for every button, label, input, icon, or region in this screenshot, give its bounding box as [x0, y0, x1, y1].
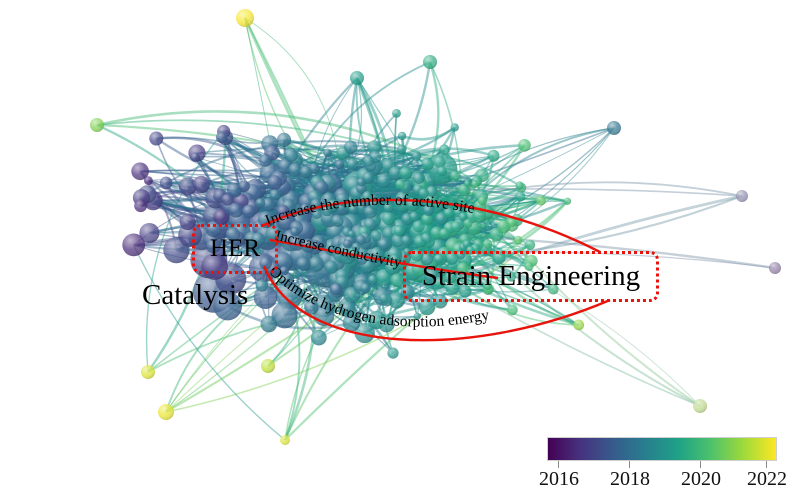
node-label-catalysis: Catalysis — [142, 279, 248, 312]
tick-label-2022: 2022 — [740, 468, 794, 489]
strain-text: Strain Engineering — [422, 260, 640, 293]
colorbar-legend: 2016 2018 2020 2022 — [547, 437, 775, 489]
node-label-strain-engineering[interactable]: Strain Engineering — [403, 251, 659, 302]
her-text: HER — [210, 235, 260, 263]
network-graph-canvas: Increase the number of active site Incre… — [0, 0, 800, 489]
tick-label-2018: 2018 — [603, 468, 657, 489]
node-label-her[interactable]: HER — [192, 224, 278, 274]
colorbar-tick-labels: 2016 2018 2020 2022 — [537, 468, 785, 489]
tick-label-2016: 2016 — [532, 468, 586, 489]
colorbar-ticks — [547, 461, 775, 468]
network-figure: Increase the number of active site Incre… — [0, 0, 800, 489]
colorbar-gradient — [547, 437, 777, 461]
tick-label-2020: 2020 — [674, 468, 728, 489]
